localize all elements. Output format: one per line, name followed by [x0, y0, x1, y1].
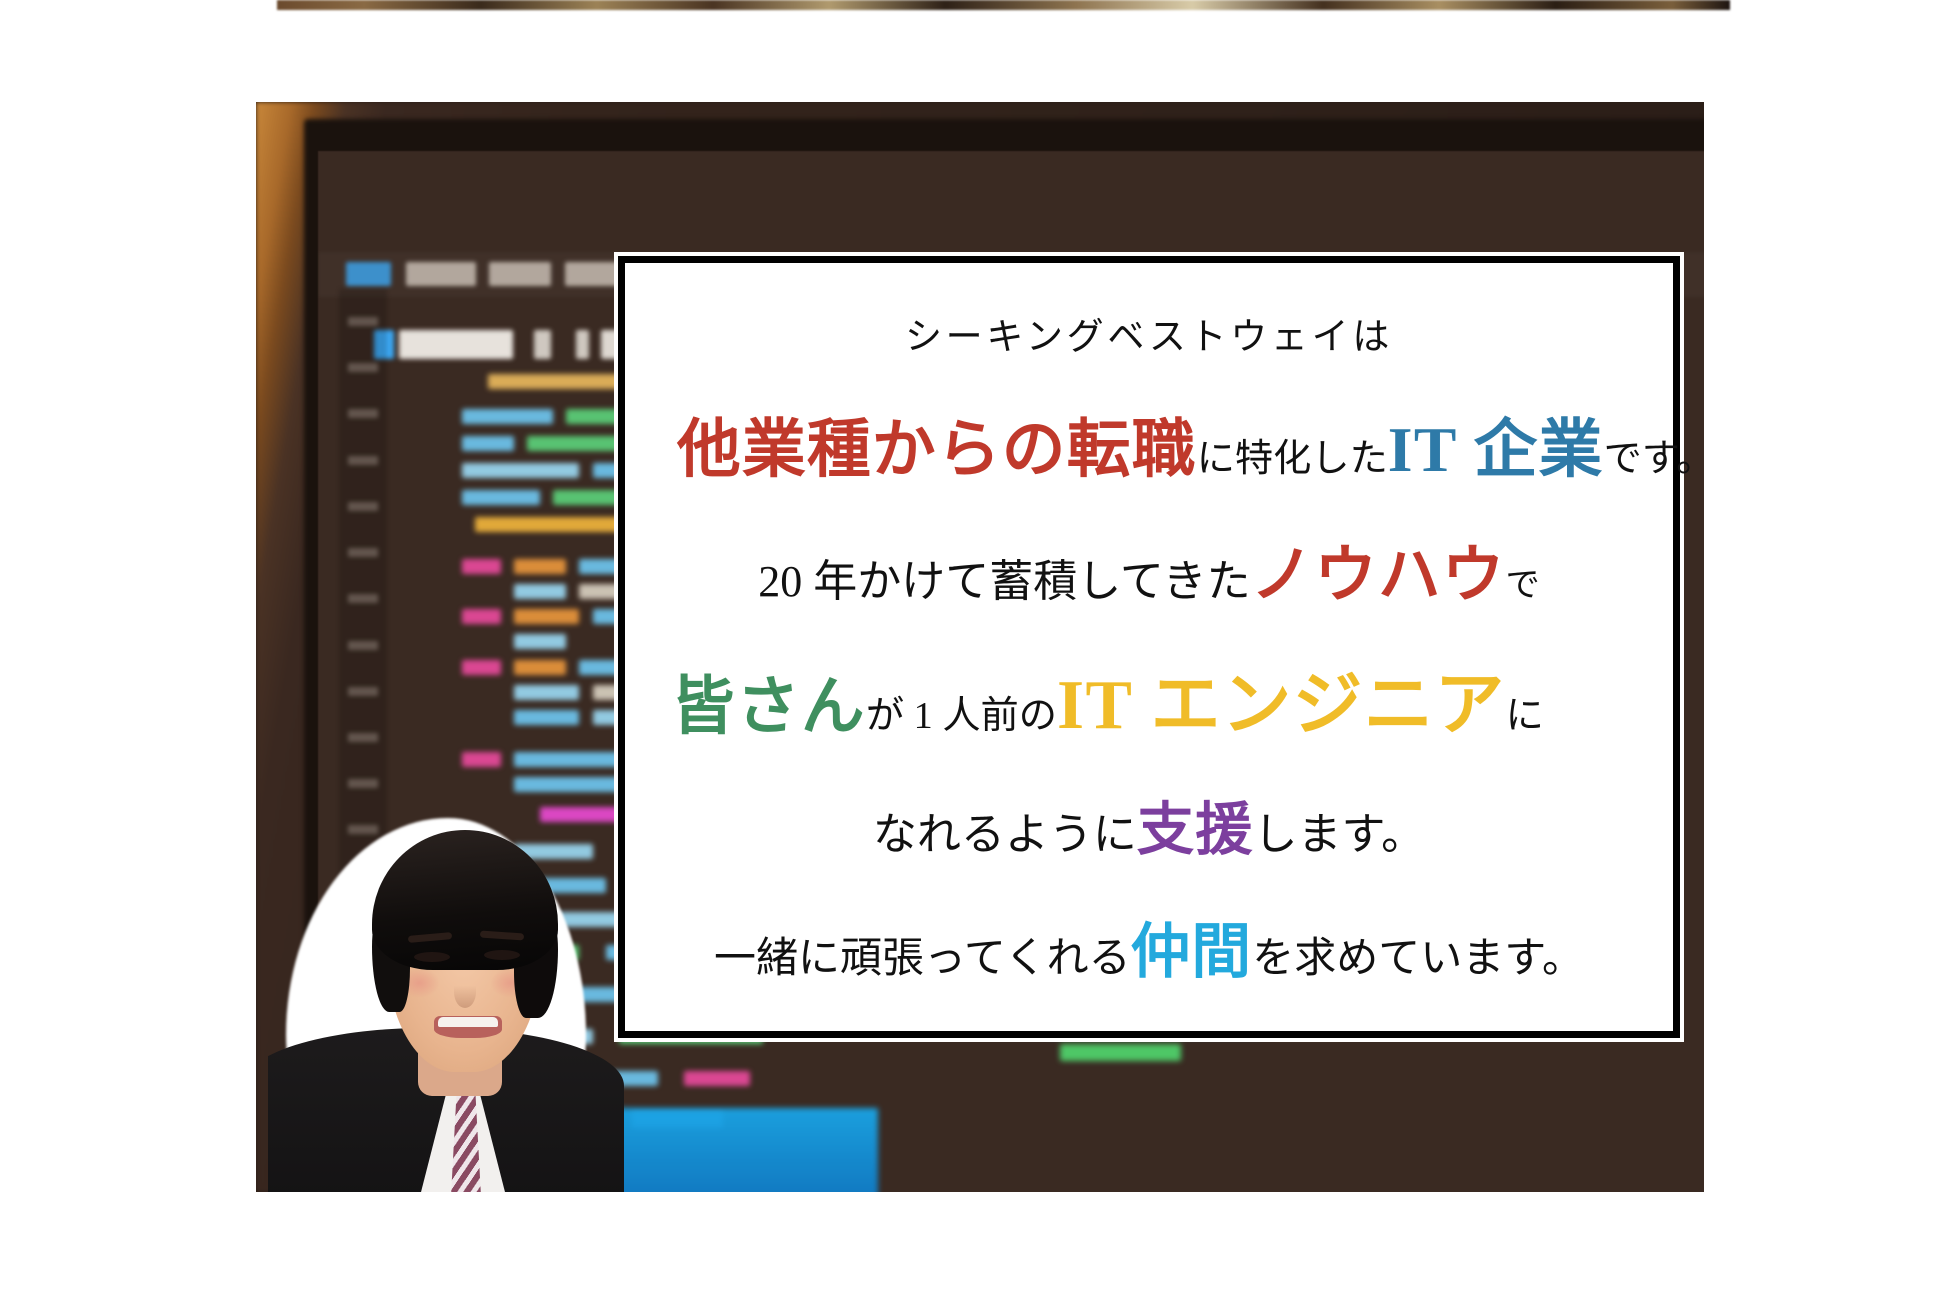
line3-text-a: 20 年かけて蓄積してきた — [758, 557, 1250, 606]
line6-text-b: を求めています。 — [1252, 936, 1584, 982]
line6-text-a: 一緒に頑張ってくれる — [714, 936, 1131, 982]
line4-text-b: に — [1506, 695, 1544, 737]
line2-highlight-it-company: IT 企業 — [1388, 414, 1604, 485]
message-line-4: 皆さんが 1 人前のIT エンジニアに — [651, 669, 1647, 742]
eye-right — [484, 950, 520, 960]
line4-highlight-it-engineer: IT エンジニア — [1057, 667, 1506, 744]
message-line-5: なれるように支援します。 — [651, 801, 1647, 861]
line3-highlight-knowhow: ノウハウ — [1251, 540, 1506, 610]
line3-text-b: で — [1505, 566, 1539, 604]
line2-text-a: に特化した — [1197, 438, 1388, 480]
line5-highlight-support: 支援 — [1137, 799, 1254, 862]
line2-text-b: です。 — [1604, 438, 1715, 480]
line4-highlight-everyone: 皆さん — [671, 671, 866, 742]
mouth — [434, 1016, 502, 1038]
line5-text-a: なれるように — [873, 810, 1137, 859]
message-line-3: 20 年かけて蓄積してきたノウハウで — [651, 543, 1647, 609]
line6-highlight-comrades: 仲間 — [1131, 919, 1253, 985]
eye-left — [414, 952, 450, 962]
line2-highlight-career-change: 他業種からの転職 — [677, 414, 1197, 485]
nose — [454, 976, 476, 1008]
message-line-1: シーキングベストウェイは — [651, 319, 1647, 358]
line1-text: シーキングベストウェイは — [905, 317, 1393, 358]
message-line-2: 他業種からの転職に特化したIT 企業です。 — [651, 417, 1647, 484]
line5-text-b: します。 — [1254, 810, 1426, 859]
top-image-strip — [277, 0, 1730, 10]
line4-text-a: が 1 人前の — [866, 695, 1057, 737]
message-box-inner: シーキングベストウェイは 他業種からの転職に特化したIT 企業です。 20 年か… — [618, 256, 1680, 1038]
message-box: シーキングベストウェイは 他業種からの転職に特化したIT 企業です。 20 年か… — [614, 252, 1684, 1042]
message-line-6: 一緒に頑張ってくれる仲間を求めています。 — [651, 921, 1647, 984]
teeth — [438, 1017, 498, 1027]
